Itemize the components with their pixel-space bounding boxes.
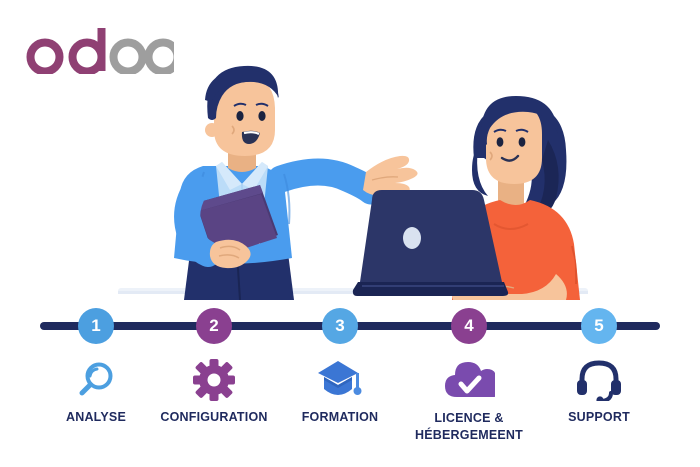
laptop [353, 190, 508, 296]
step-1-label: ANALYSE [31, 410, 161, 426]
step-3-number-badge[interactable]: 3 [322, 308, 358, 344]
laptop-base [353, 282, 508, 296]
step-2-label: CONFIGURATION [149, 410, 279, 426]
step-1-icon-wrap [31, 356, 161, 404]
headset-icon [576, 359, 622, 401]
timeline-step-4[interactable]: 4 LICENCE & HÉBERGEMEENT [404, 300, 534, 444]
step-4-label-line2: HÉBERGEMEENT [404, 427, 534, 443]
step-2-icon-wrap [149, 356, 279, 404]
infographic-page: 1 ANALYSE 2 [0, 0, 700, 467]
timeline-step-5[interactable]: 5 SUPPORT [534, 300, 664, 426]
timeline-step-1[interactable]: 1 ANALYSE [31, 300, 161, 426]
step-2-number: 2 [209, 316, 218, 336]
step-5-icon-wrap [534, 356, 664, 404]
cloud-check-icon [443, 359, 495, 401]
woman-eye-left [497, 137, 504, 147]
step-5-number-badge[interactable]: 5 [581, 308, 617, 344]
gear-icon [192, 358, 236, 402]
illustration-svg [0, 48, 700, 300]
step-5-label: SUPPORT [534, 410, 664, 426]
process-timeline: 1 ANALYSE 2 [0, 300, 700, 467]
step-4-icon-wrap [404, 356, 534, 404]
man-eye-left [236, 111, 243, 121]
step-3-number: 3 [335, 316, 344, 336]
step-1-number-badge[interactable]: 1 [78, 308, 114, 344]
step-1-number: 1 [91, 316, 100, 336]
step-3-label: FORMATION [275, 410, 405, 426]
graduation-cap-icon [316, 359, 364, 401]
woman-eye-right [519, 137, 526, 147]
timeline-step-3[interactable]: 3 FORMATION [275, 300, 405, 426]
man-eye-right [258, 111, 265, 121]
timeline-step-2[interactable]: 2 CON [149, 300, 279, 426]
step-2-number-badge[interactable]: 2 [196, 308, 232, 344]
magnifier-icon [75, 359, 117, 401]
laptop-logo [403, 227, 421, 249]
man-extended-arm [281, 172, 371, 191]
step-5-number: 5 [594, 316, 603, 336]
step-4-number: 4 [464, 316, 473, 336]
step-4-number-badge[interactable]: 4 [451, 308, 487, 344]
microphone-tip-icon [596, 396, 603, 401]
laptop-lid [360, 190, 502, 282]
step-4-label-line1: LICENCE & [404, 410, 534, 426]
step-3-icon-wrap [275, 356, 405, 404]
hero-illustration [0, 48, 700, 300]
